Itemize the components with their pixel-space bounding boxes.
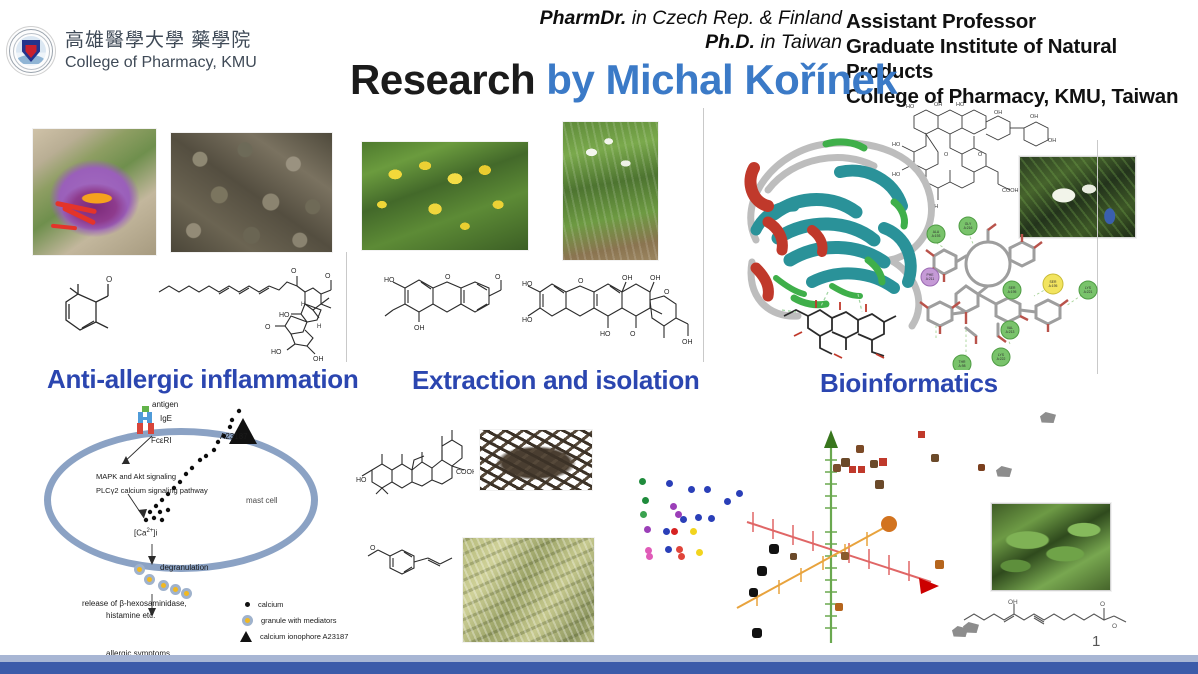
svg-text:O: O [370,545,376,552]
slide-root: 高雄醫學大學 藥學院 College of Pharmacy, KMU Phar… [0,0,1198,674]
granule-icon [242,615,253,626]
lemongrass-plant-photo [563,122,658,260]
page-title-prefix: Research [350,56,546,103]
molecule-dot-cluster [618,470,718,555]
org-name-chinese: 高雄醫學大學 藥學院 [65,29,257,53]
affiliation-block: Assistant Professor Graduate Institute o… [846,9,1198,109]
affiliation-line-1: Assistant Professor [846,9,1198,34]
svg-text:A:211: A:211 [926,277,935,281]
svg-text:A:216: A:216 [964,226,973,230]
scatter-axes [725,400,985,650]
hydroxy-fatty-ester-structure: OH O O [960,598,1140,638]
svg-text:OH: OH [682,339,693,346]
credential-place-2: in Taiwan [755,31,842,53]
bio-marker-2 [996,466,1012,477]
phorbol-ester-structure: O O HO O HO OH H H [155,268,347,366]
legend-label-ionophore: calcium ionophore A23187 [260,632,348,641]
svg-text:COOH: COOH [1002,188,1019,194]
svg-text:HO: HO [356,477,367,484]
org-name-english: College of Pharmacy, KMU [65,53,257,73]
svg-text:HO: HO [956,102,965,108]
section-heading-anti-allergic: Anti-allergic inflammation [47,364,358,395]
credential-place-1: in Czech Rep. & Finland [626,7,842,29]
svg-text:OH: OH [994,110,1002,116]
kmu-seal-icon [6,26,56,76]
svg-text:HO: HO [522,317,533,324]
pca-3d-scatter-plot [725,400,985,650]
legend-item-calcium: calcium [240,596,348,612]
footer-bar-dark [0,662,1198,674]
triangle-ionophore-icon [240,631,252,642]
fennel-seeds-photo [463,538,594,642]
label-release-line-1: release of β-hexosaminidase, [82,599,187,608]
saffron-stigma-seeds-photo [171,133,332,252]
credential-degree-1: PharmDr. [540,7,627,29]
svg-text:O: O [664,289,670,296]
granule-icon [181,588,192,599]
page-number: 1 [1092,633,1100,650]
svg-text:HO: HO [271,349,282,356]
ligand-interaction-diagram: ALAA:193 GLYA:216 PHEA:211 SERA:195 SERA… [900,212,1098,370]
label-release-line-2: histamine etc. [106,611,155,620]
svg-text:O: O [1100,601,1105,608]
svg-text:OH: OH [622,275,633,282]
svg-text:A:221: A:221 [1084,290,1093,294]
footer-bar-light [0,655,1198,662]
credentials-block: PharmDr. in Czech Rep. & Finland Ph.D. i… [527,7,842,55]
svg-text:COOH: COOH [456,469,474,476]
kmu-logo-block: 高雄醫學大學 藥學院 College of Pharmacy, KMU [6,26,257,76]
svg-text:OH: OH [1008,599,1018,606]
label-plcg2: PLCγ2 calcium signaling pathway [96,486,208,495]
yellow-iris-field-photo [362,142,528,250]
svg-text:O: O [106,275,112,284]
page-title-author: by Michal Kořínek [546,56,897,103]
svg-text:O: O [978,152,983,158]
organisation-names: 高雄醫學大學 藥學院 College of Pharmacy, KMU [65,29,257,73]
svg-text:OH: OH [414,325,425,332]
section-heading-extraction: Extraction and isolation [412,365,700,396]
credential-degree-2: Ph.D. [705,31,755,53]
label-calcium-concentration: [Ca2+]i [134,528,157,538]
methoxy-flavanone-structure: HO O OH O [383,272,511,350]
svg-text:A:195: A:195 [1049,284,1058,288]
svg-text:A:222: A:222 [997,357,1006,361]
svg-text:O: O [630,331,636,338]
granule-icon [170,584,181,595]
divider-middle [703,108,704,362]
safranal-structure: O [58,272,138,354]
svg-text:OH: OH [1048,138,1056,144]
svg-text:A:193: A:193 [932,234,941,238]
legend-label-calcium: calcium [258,600,283,609]
svg-text:A:195: A:195 [1008,290,1017,294]
svg-text:HO: HO [384,277,395,284]
svg-text:A:213: A:213 [1006,330,1015,334]
svg-text:OH: OH [650,275,661,282]
legend-item-ionophore: calcium ionophore A23187 [240,628,348,644]
svg-text:H: H [317,324,321,330]
legend-label-granule: granule with mediators [261,616,336,625]
anethole-structure: O [366,540,462,582]
mast-cell-legend: calcium granule with mediators calcium i… [240,596,348,644]
svg-text:O: O [265,324,271,331]
svg-text:OH: OH [1030,114,1038,120]
affiliation-line-2: Graduate Institute of Natural Products [846,34,1198,84]
legend-item-granule: granule with mediators [240,612,348,628]
svg-text:O: O [1112,623,1117,630]
svg-text:HO: HO [279,312,290,319]
svg-text:OH: OH [934,102,942,108]
saffron-crocus-flower-photo [33,129,156,255]
svg-text:OH: OH [313,356,324,363]
granule-icon [144,574,155,585]
svg-text:O: O [291,268,297,275]
section-heading-bioinformatics: Bioinformatics [820,368,998,399]
svg-text:HO: HO [600,331,611,338]
svg-text:O: O [578,278,584,285]
calcium-dot-icon [245,602,250,607]
credential-line-1: PharmDr. in Czech Rep. & Finland [527,7,842,31]
svg-text:HO: HO [522,281,533,288]
ursolic-acid-structure: HO COOH [356,414,474,500]
page-title: Research by Michal Kořínek [350,56,897,104]
svg-text:H: H [301,302,305,308]
granule-icon [134,564,145,575]
svg-text:O: O [445,274,451,281]
label-degranulation: degranulation [160,563,208,572]
label-mast-cell: mast cell [246,496,278,505]
biflavonoid-structure: HO HO O OH OH HO O O OH [522,270,698,366]
credential-line-2: Ph.D. in Taiwan [527,31,842,55]
alpinia-leaves-photo [991,503,1111,591]
svg-text:O: O [495,274,501,281]
label-mapk-akt: MAPK and Akt signaling [96,472,176,481]
svg-text:O: O [325,273,331,280]
granule-icon [158,580,169,591]
dried-clove-bark-photo [480,430,592,490]
bio-marker-1 [1040,412,1056,423]
